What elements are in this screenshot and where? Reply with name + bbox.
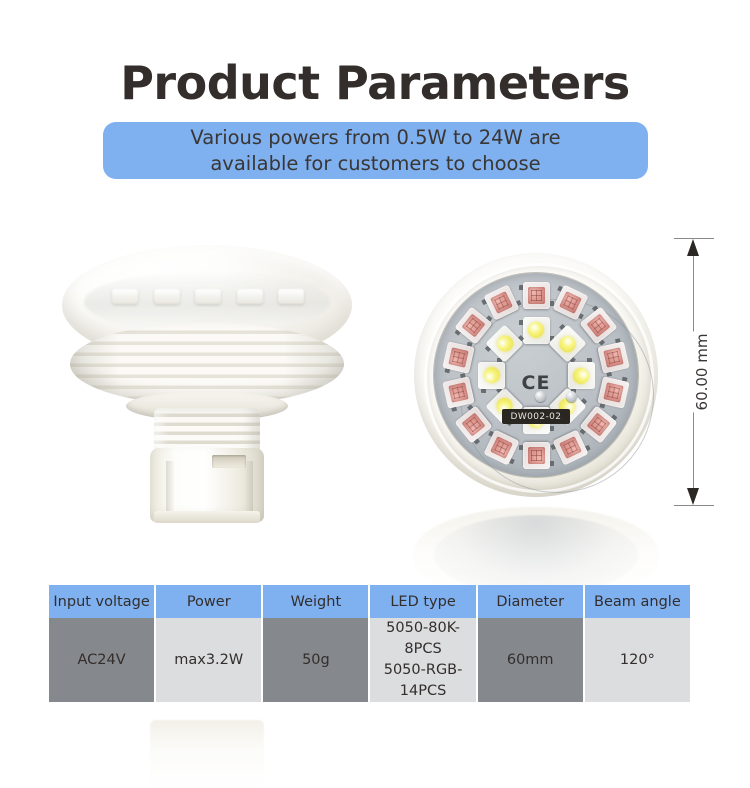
dimension-extension-line-bottom	[674, 505, 714, 506]
subtitle-banner: Various powers from 0.5W to 24W are avai…	[103, 122, 648, 179]
spec-value-beam-angle: 120°	[585, 618, 690, 702]
bulb-base-notch-right	[244, 461, 253, 517]
bulb-base-foot	[154, 511, 260, 523]
spec-header-weight: Weight	[263, 585, 368, 618]
product-image-stage: CE DW002-02	[0, 215, 750, 595]
bulb-internal-leds	[112, 283, 304, 309]
led-rgb	[523, 282, 550, 309]
led-rgb	[442, 377, 474, 409]
spec-table: Input voltage Power Weight LED type Diam…	[47, 585, 692, 702]
led-white	[523, 317, 550, 344]
spec-header-diameter: Diameter	[478, 585, 583, 618]
arrow-down-icon	[687, 488, 699, 505]
led-bulb-front-view-image: CE DW002-02	[414, 253, 658, 497]
spec-table-value-row: AC24V max3.2W 50g 5050-80K-8PCS 5050-RGB…	[49, 618, 690, 702]
led-pcb-board: CE DW002-02	[434, 273, 638, 477]
spec-value-power: max3.2W	[156, 618, 261, 702]
spec-value-led-type: 5050-80K-8PCS 5050-RGB-14PCS	[370, 618, 475, 702]
bulb-base-notch-left	[166, 461, 175, 517]
dimension-annotation: 60.00 mm	[672, 238, 732, 506]
spec-header-led-type: LED type	[370, 585, 475, 618]
ce-mark-icon: CE	[522, 372, 551, 394]
led-rgb	[442, 341, 474, 373]
solder-pad-left	[535, 391, 546, 402]
bulb-base-slot	[212, 455, 246, 468]
spec-value-input-voltage: AC24V	[49, 618, 154, 702]
solder-pad-right	[566, 391, 577, 402]
board-model-label: DW002-02	[502, 409, 570, 424]
side-view-reflection	[150, 720, 264, 788]
led-rgb	[523, 442, 550, 469]
spec-header-input-voltage: Input voltage	[49, 585, 154, 618]
spec-value-weight: 50g	[263, 618, 368, 702]
front-view-reflection	[414, 507, 658, 597]
arrow-up-icon	[687, 239, 699, 256]
led-bulb-side-view-image	[62, 245, 352, 515]
spec-value-diameter: 60mm	[478, 618, 583, 702]
spec-header-beam-angle: Beam angle	[585, 585, 690, 618]
led-white	[478, 362, 505, 389]
spec-table-header-row: Input voltage Power Weight LED type Diam…	[49, 585, 690, 618]
spec-header-power: Power	[156, 585, 261, 618]
page-title: Product Parameters	[0, 60, 750, 106]
led-white	[568, 362, 595, 389]
dimension-label: 60.00 mm	[689, 332, 715, 413]
subtitle-text: Various powers from 0.5W to 24W are avai…	[176, 125, 574, 176]
